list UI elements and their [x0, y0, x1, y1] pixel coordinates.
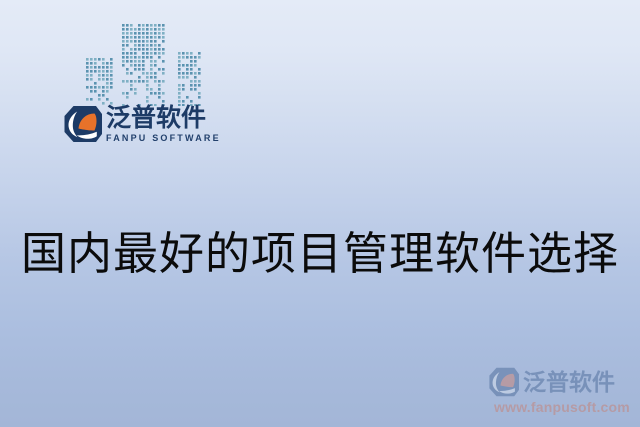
fanpu-logo-mark-watermark-icon — [488, 367, 520, 397]
brand-logo: 泛普软件 FANPU SOFTWARE — [63, 99, 209, 149]
brand-name-cn: 泛普软件 — [106, 105, 221, 131]
brand-text: 泛普软件 FANPU SOFTWARE — [106, 105, 221, 144]
watermark: 泛普软件 www.fanpusoft.com — [486, 365, 636, 423]
watermark-logo-row: 泛普软件 — [486, 365, 636, 399]
brand-name-en: FANPU SOFTWARE — [106, 132, 221, 144]
fanpu-logo-mark-icon — [63, 105, 103, 143]
pixel-city-skyline-icon — [86, 24, 202, 106]
watermark-url: www.fanpusoft.com — [486, 399, 636, 416]
watermark-company-name: 泛普软件 — [523, 370, 615, 394]
skyline-svg — [86, 24, 202, 106]
page-title: 国内最好的项目管理软件选择 — [0, 226, 640, 282]
promo-banner: 泛普软件 FANPU SOFTWARE 国内最好的项目管理软件选择 泛普软件 w… — [0, 0, 640, 427]
